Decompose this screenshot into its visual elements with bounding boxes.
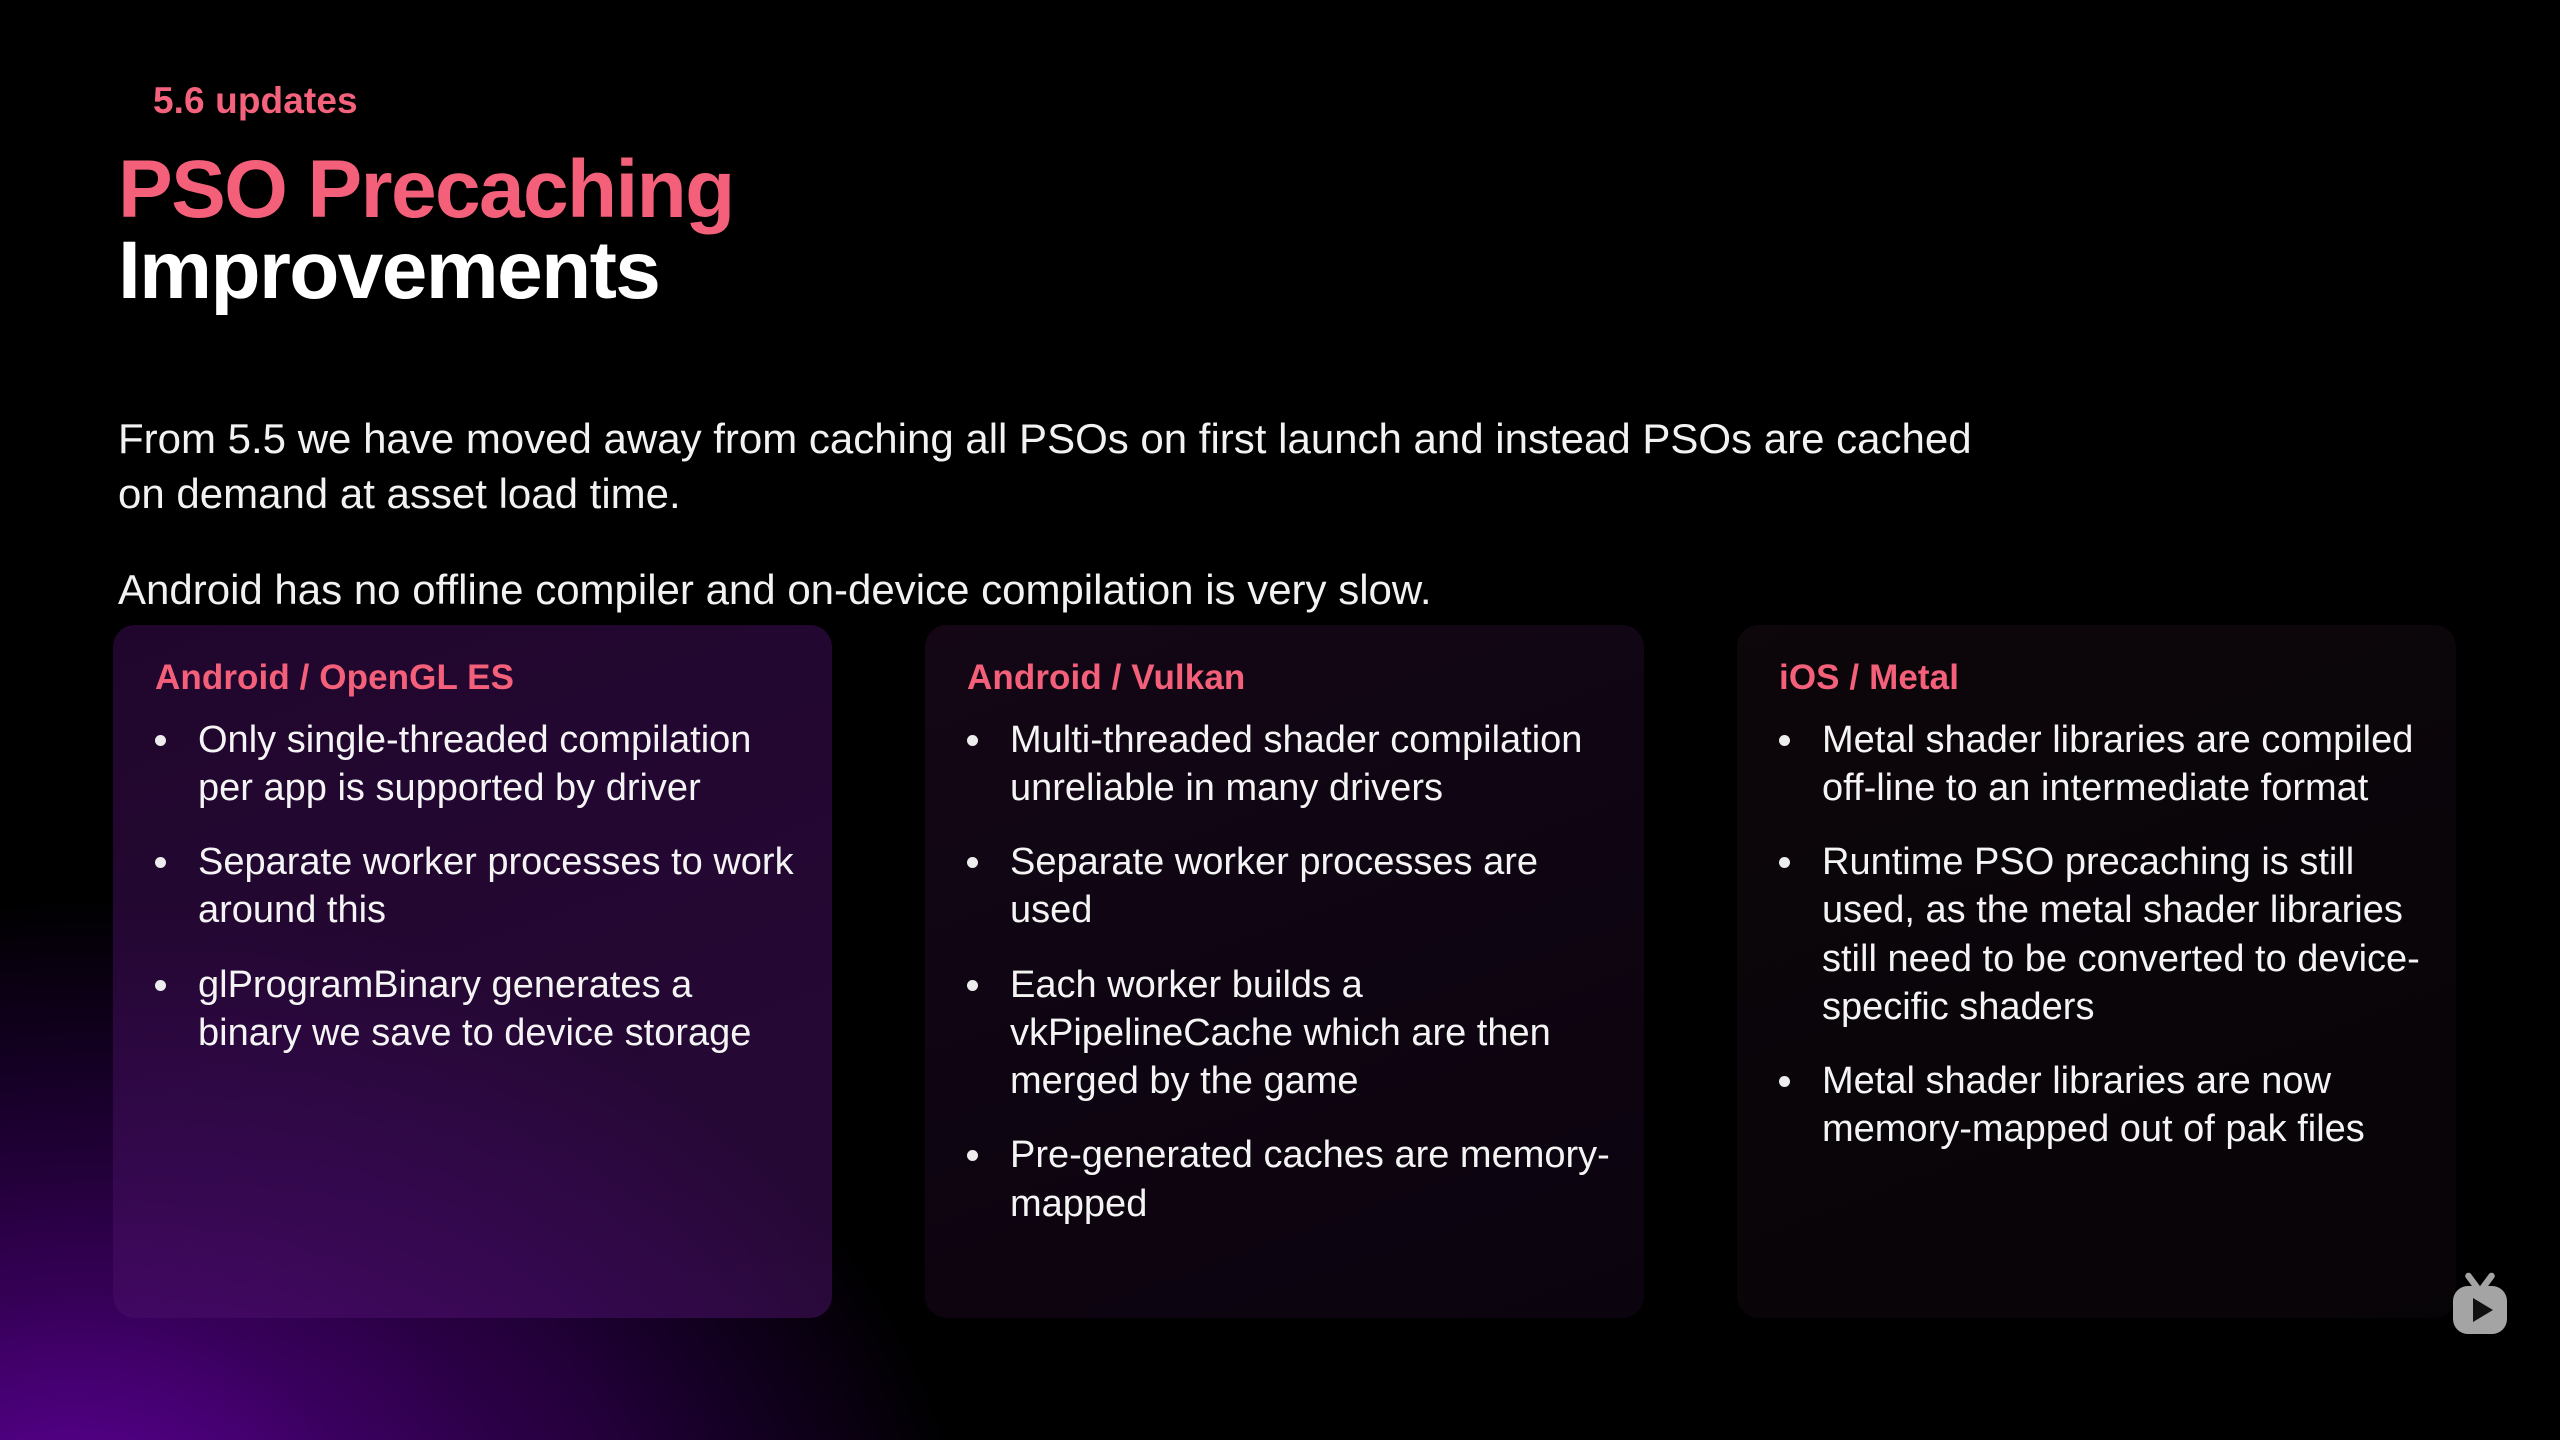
slide-title-line-2: Improvements xyxy=(118,230,2458,311)
bullet-dot-icon xyxy=(155,980,166,991)
card-title-android-opengl-es: Android / OpenGL ES xyxy=(155,659,802,698)
list-item-text: Each worker builds a vkPipelineCache whi… xyxy=(1010,964,1551,1103)
list-item-text: Only single-threaded compilation per app… xyxy=(198,719,751,809)
list-item: Runtime PSO precaching is still used, as… xyxy=(1767,838,2426,1031)
list-item: Metal shader libraries are now memory-ma… xyxy=(1767,1057,2426,1154)
bullet-dot-icon xyxy=(1779,735,1790,746)
list-item: Metal shader libraries are compiled off-… xyxy=(1767,716,2426,813)
platform-card-android-opengl-es: Android / OpenGL ES Only single-threaded… xyxy=(113,625,832,1318)
list-item-text: Runtime PSO precaching is still used, as… xyxy=(1822,841,2420,1028)
bullet-list-android-vulkan: Multi-threaded shader compilation unreli… xyxy=(955,716,1614,1228)
bullet-dot-icon xyxy=(155,735,166,746)
bullet-dot-icon xyxy=(155,857,166,868)
list-item-text: glProgramBinary generates a binary we sa… xyxy=(198,964,751,1054)
slide-eyebrow: 5.6 updates xyxy=(153,82,2458,119)
slide-header: 5.6 updates PSO Precaching Improvements xyxy=(118,82,2458,311)
bullet-dot-icon xyxy=(967,1150,978,1161)
bullet-list-ios-metal: Metal shader libraries are compiled off-… xyxy=(1767,716,2426,1154)
card-title-android-vulkan: Android / Vulkan xyxy=(967,659,1614,698)
list-item: Separate worker processes to work around… xyxy=(143,838,802,935)
list-item-text: Metal shader libraries are now memory-ma… xyxy=(1822,1060,2365,1150)
intro-text-block: From 5.5 we have moved away from caching… xyxy=(118,412,1988,618)
bullet-dot-icon xyxy=(967,735,978,746)
bullet-list-android-opengl-es: Only single-threaded compilation per app… xyxy=(143,716,802,1058)
list-item: Only single-threaded compilation per app… xyxy=(143,716,802,813)
list-item-text: Pre-generated caches are memory-mapped xyxy=(1010,1134,1610,1224)
list-item-text: Separate worker processes are used xyxy=(1010,841,1538,931)
list-item: glProgramBinary generates a binary we sa… xyxy=(143,961,802,1058)
bullet-dot-icon xyxy=(967,980,978,991)
list-item: Each worker builds a vkPipelineCache whi… xyxy=(955,961,1614,1106)
list-item: Pre-generated caches are memory-mapped xyxy=(955,1131,1614,1228)
slide-title: PSO Precaching Improvements xyxy=(118,149,2458,311)
bullet-dot-icon xyxy=(967,857,978,868)
intro-paragraph-1: From 5.5 we have moved away from caching… xyxy=(118,412,1988,521)
card-title-ios-metal: iOS / Metal xyxy=(1779,659,2426,698)
list-item: Separate worker processes are used xyxy=(955,838,1614,935)
presentation-slide: 5.6 updates PSO Precaching Improvements … xyxy=(0,0,2560,1440)
bullet-dot-icon xyxy=(1779,1076,1790,1087)
list-item: Multi-threaded shader compilation unreli… xyxy=(955,716,1614,813)
platform-columns: Android / OpenGL ES Only single-threaded… xyxy=(113,625,2560,1318)
platform-card-ios-metal: iOS / Metal Metal shader libraries are c… xyxy=(1737,625,2456,1318)
list-item-text: Multi-threaded shader compilation unreli… xyxy=(1010,719,1582,809)
intro-paragraph-2: Android has no offline compiler and on-d… xyxy=(118,563,1988,618)
tv-play-icon xyxy=(2444,1272,2516,1340)
slide-title-line-1: PSO Precaching xyxy=(118,149,2458,230)
bullet-dot-icon xyxy=(1779,857,1790,868)
platform-card-android-vulkan: Android / Vulkan Multi-threaded shader c… xyxy=(925,625,1644,1318)
list-item-text: Separate worker processes to work around… xyxy=(198,841,794,931)
list-item-text: Metal shader libraries are compiled off-… xyxy=(1822,719,2413,809)
